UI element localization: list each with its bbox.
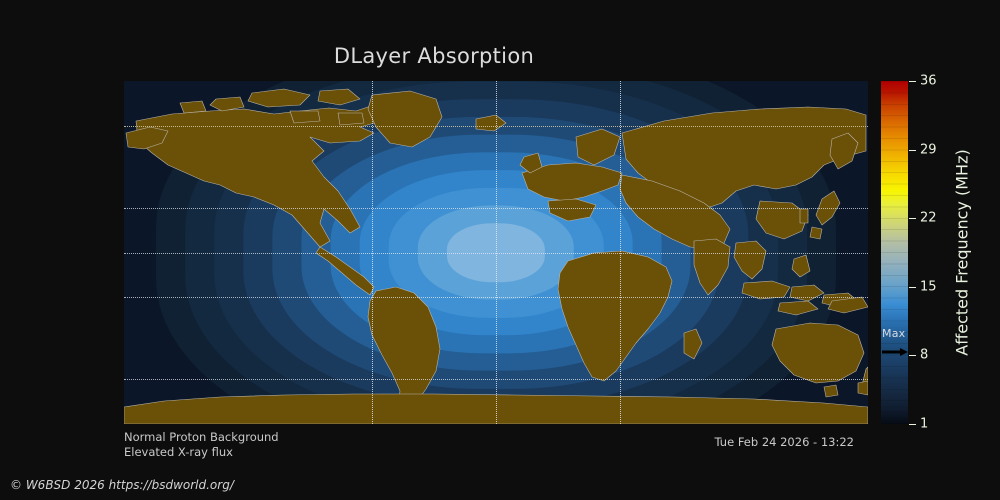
timestamp: Tue Feb 24 2026 - 13:22: [0, 435, 868, 449]
coastline-layer: [124, 81, 868, 424]
colorbar-tick-label-29: 29: [920, 142, 937, 157]
colorbar-tick-label-1: 1: [920, 417, 928, 432]
copyright-notice: © W6BSD 2026 https://bsdworld.org/: [10, 478, 234, 492]
max-marker-label: Max: [882, 327, 905, 340]
world-map-panel[interactable]: [124, 81, 868, 424]
colorbar-tick-label-36: 36: [920, 74, 937, 89]
colorbar-tick-label-15: 15: [920, 279, 937, 294]
max-marker-arrow-icon: [882, 341, 908, 349]
colorbar-tick-29: [909, 150, 916, 151]
colorbar-tick-15: [909, 287, 916, 288]
colorbar-axis-label-text: Affected Frequency (MHz): [953, 149, 972, 355]
dlayer-absorption-figure: DLayer Absorption: [0, 0, 1000, 500]
colorbar-tick-label-22: 22: [920, 211, 937, 226]
colorbar-level-bands: [881, 81, 908, 424]
colorbar-axis-label: Affected Frequency (MHz): [952, 81, 972, 424]
colorbar-tick-36: [909, 81, 916, 82]
colorbar[interactable]: 1815222936 Max: [881, 81, 908, 424]
colorbar-tick-22: [909, 218, 916, 219]
colorbar-tick-label-8: 8: [920, 348, 928, 363]
colorbar-tick-1: [909, 424, 916, 425]
page-title: DLayer Absorption: [0, 44, 868, 68]
colorbar-tick-8: [909, 355, 916, 356]
